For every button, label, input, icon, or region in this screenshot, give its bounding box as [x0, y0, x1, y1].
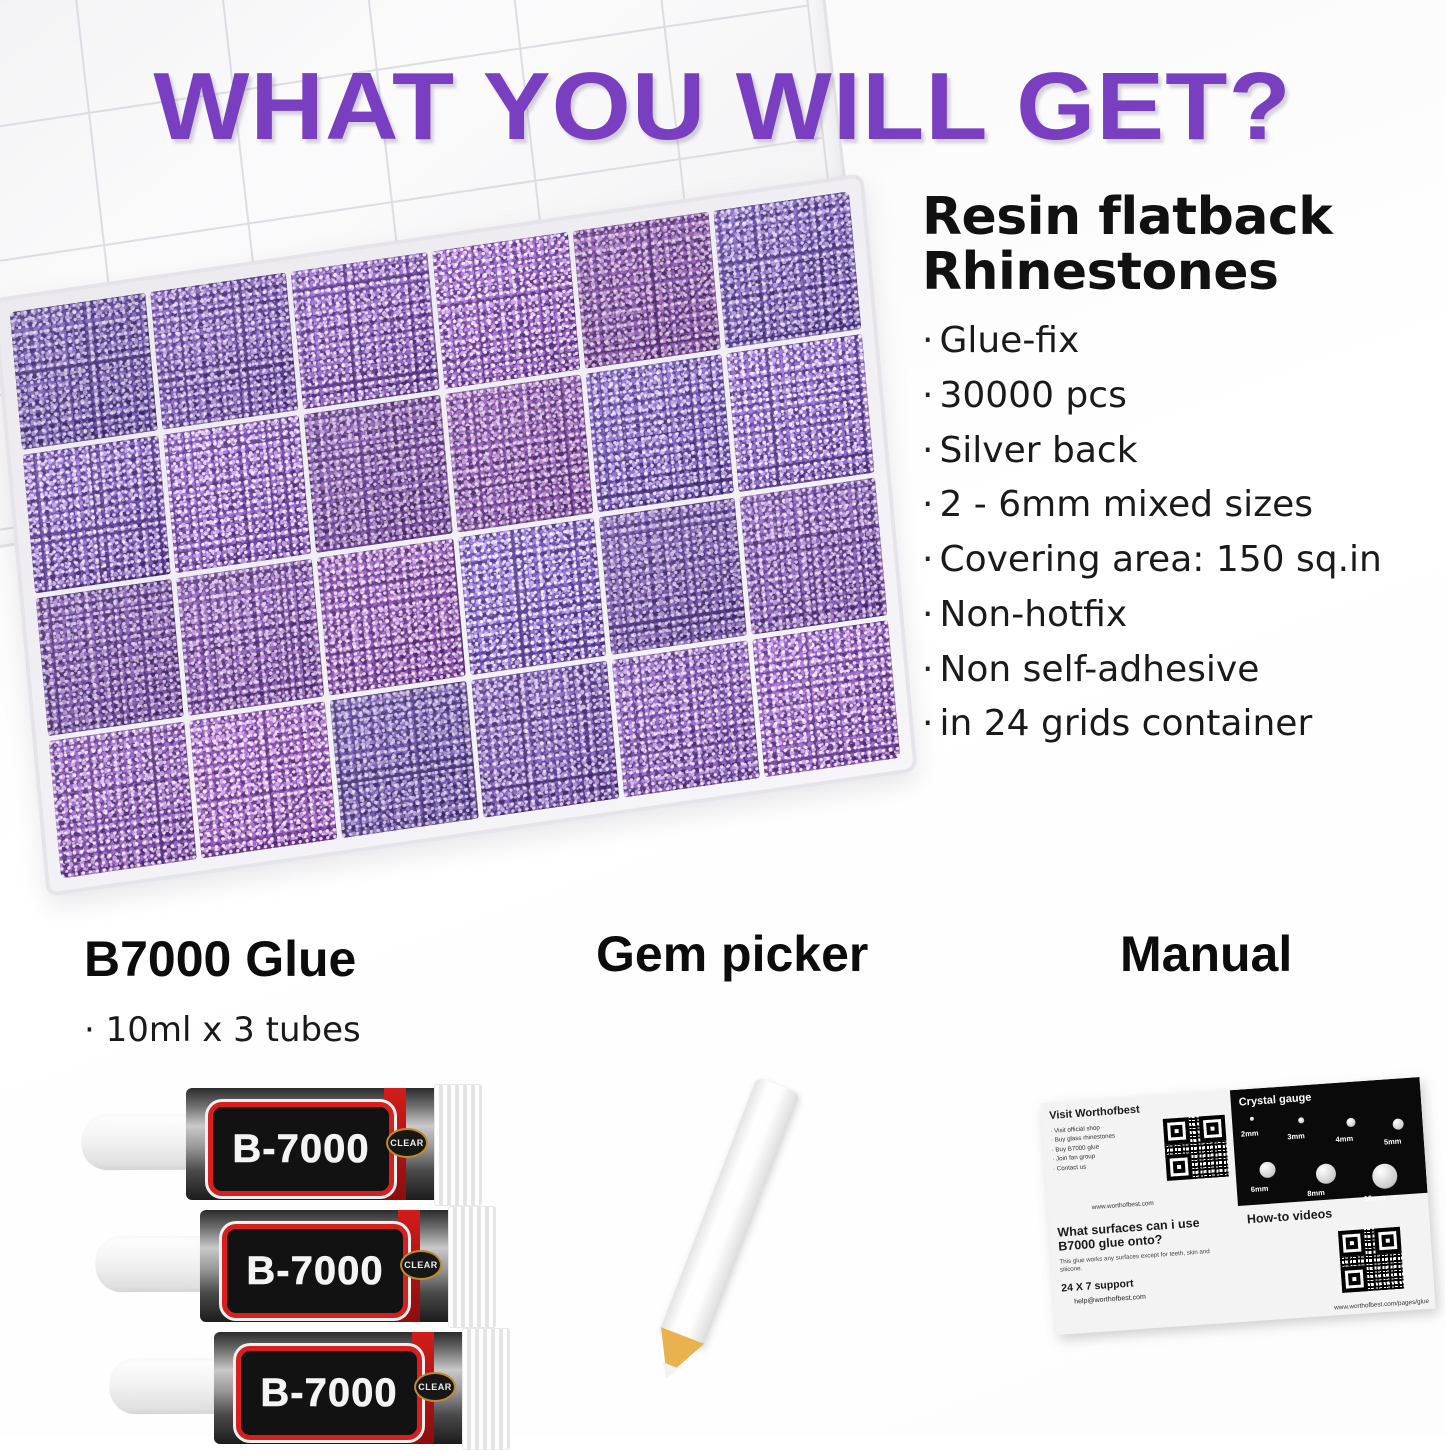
tube-brand-text: B-7000	[260, 1371, 397, 1416]
rhinestone-compartment	[739, 477, 887, 634]
rhinestone-grid	[10, 191, 901, 878]
qr-code-icon	[1163, 1115, 1229, 1181]
tube-clear-badge: CLEAR	[386, 1128, 428, 1158]
bullet-dot-icon: ·	[922, 320, 939, 361]
gem-picker-pencil	[646, 1077, 800, 1383]
tube-label: B-7000	[208, 1102, 394, 1196]
gauge-stone	[1259, 1161, 1276, 1178]
manual-howto-title: How-to videos	[1246, 1200, 1421, 1226]
rhinestone-compartment	[432, 232, 580, 389]
rhinestone-compartment	[49, 721, 197, 878]
gauge-size-label: 2mm	[1241, 1128, 1259, 1138]
glue-tube: B-7000 CLEAR Multi-Purpose Glue 0.5 OZ |…	[96, 1210, 496, 1322]
gauge-stone	[1346, 1118, 1356, 1128]
product-bullet-label: in 24 grids container	[939, 703, 1312, 744]
tube-nozzle	[81, 1114, 201, 1171]
rhinestone-compartment	[330, 681, 478, 838]
glue-quantity-bullet: · 10ml x 3 tubes	[84, 1010, 361, 1050]
product-heading: Resin flatback Rhinestones	[922, 190, 1442, 300]
bullet-dot-icon: ·	[922, 594, 939, 635]
rhinestone-compartment	[458, 518, 606, 675]
rhinestone-compartment	[713, 191, 861, 348]
bullet-dot-icon: ·	[922, 539, 939, 580]
tube-clear-badge: CLEAR	[414, 1372, 456, 1402]
tube-crimp	[434, 1084, 482, 1206]
manual-visit-url: www.worthofbest.com	[1092, 1200, 1154, 1211]
product-bullet-list: ·Glue-fix·30000 pcs·Silver back·2 - 6mm …	[922, 314, 1442, 752]
gauge-stone	[1315, 1163, 1336, 1184]
gauge-size-label: 4mm	[1335, 1134, 1353, 1144]
product-bullet: ·2 - 6mm mixed sizes	[922, 478, 1442, 533]
rhinestone-compartment	[36, 578, 184, 735]
gauge-stone	[1371, 1163, 1398, 1190]
tube-body: B-7000 CLEAR Multi-Purpose Glue 0.5 OZ |…	[186, 1088, 442, 1200]
rhinestone-compartment	[163, 415, 311, 572]
rhinestone-compartment	[445, 375, 593, 532]
gauge-size-label: 6mm	[1251, 1184, 1269, 1194]
product-spec-block: Resin flatback Rhinestones ·Glue-fix·300…	[922, 190, 1442, 752]
product-bullet: ·Glue-fix	[922, 314, 1442, 369]
tube-nozzle	[109, 1358, 229, 1415]
gauge-size-label: 8mm	[1307, 1188, 1325, 1198]
rhinestone-compartment	[150, 272, 298, 429]
gauge-stone	[1392, 1118, 1404, 1130]
gauge-size-label: 5mm	[1384, 1136, 1402, 1146]
gauge-size-label: 3mm	[1287, 1131, 1305, 1141]
manual-section-heading: Manual	[1120, 925, 1292, 983]
tube-clear-badge: CLEAR	[400, 1250, 442, 1280]
rhinestone-compartment	[752, 620, 900, 777]
tube-crimp	[448, 1206, 496, 1328]
tube-brand-text: B-7000	[246, 1249, 383, 1294]
manual-howto-url: www.worthofbest.com/pages/glue	[1334, 1298, 1429, 1312]
manual-quadrant-visit: Visit Worthofbest Visit official shopBuy…	[1040, 1090, 1238, 1219]
tube-label: B-7000	[236, 1346, 422, 1440]
tube-brand-text: B-7000	[232, 1127, 369, 1172]
glue-tube: B-7000 CLEAR Multi-Purpose Glue 0.5 OZ |…	[82, 1088, 482, 1200]
container-tray	[0, 173, 918, 897]
product-bullet-label: Covering area: 150 sq.in	[939, 539, 1381, 580]
gauge-stone	[1298, 1117, 1304, 1123]
product-bullet: ·30000 pcs	[922, 369, 1442, 424]
rhinestone-compartment	[726, 334, 874, 491]
rhinestone-compartment	[23, 436, 171, 593]
manual-quadrant-surfaces: What surfaces can i use B7000 glue onto?…	[1048, 1206, 1246, 1335]
bullet-dot-icon: ·	[922, 484, 939, 525]
product-bullet-label: 30000 pcs	[939, 375, 1126, 416]
gauge-stone	[1250, 1117, 1254, 1121]
tube-nozzle	[95, 1236, 215, 1293]
picker-section-heading: Gem picker	[596, 925, 868, 983]
rhinestone-compartment	[598, 497, 746, 654]
rhinestone-compartment	[189, 701, 337, 858]
rhinestone-compartment	[572, 212, 720, 369]
product-bullet: ·Non-hotfix	[922, 588, 1442, 643]
page-title: WHAT YOU WILL GET?	[0, 52, 1445, 162]
tube-body: B-7000 CLEAR Multi-Purpose Glue 0.5 OZ |…	[200, 1210, 456, 1322]
bullet-dot-icon: ·	[922, 430, 939, 471]
rhinestone-compartment	[10, 293, 158, 450]
product-heading-line1: Resin flatback	[922, 187, 1332, 247]
qr-code-icon	[1338, 1227, 1404, 1293]
product-bullet-label: Non self-adhesive	[939, 649, 1259, 690]
picker-shaft	[660, 1077, 800, 1347]
manual-card: Visit Worthofbest Visit official shopBuy…	[1040, 1077, 1435, 1335]
bullet-dot-icon: ·	[922, 375, 939, 416]
product-bullet: ·in 24 grids container	[922, 697, 1442, 752]
bullet-dot-icon: ·	[922, 703, 939, 744]
rhinestone-compartment	[291, 252, 439, 409]
rhinestone-compartment	[304, 395, 452, 552]
product-bullet: ·Silver back	[922, 424, 1442, 479]
product-bullet-label: Non-hotfix	[939, 594, 1127, 635]
product-bullet-label: 2 - 6mm mixed sizes	[939, 484, 1313, 525]
glue-tube: B-7000 CLEAR Multi-Purpose Glue 0.5 OZ |…	[110, 1332, 510, 1444]
product-bullet: ·Covering area: 150 sq.in	[922, 533, 1442, 588]
rhinestone-compartment	[317, 538, 465, 695]
manual-gauge-title: Crystal gauge	[1238, 1085, 1412, 1110]
tube-label: B-7000	[222, 1224, 408, 1318]
manual-quadrant-gauge: Crystal gauge 2mm3mm4mm5mm6mm8mm10mm	[1230, 1077, 1428, 1206]
rhinestone-compartment	[611, 640, 759, 797]
tube-body: B-7000 CLEAR Multi-Purpose Glue 0.5 OZ |…	[214, 1332, 470, 1444]
rhinestone-compartment	[585, 354, 733, 511]
product-bullet: ·Non self-adhesive	[922, 643, 1442, 698]
rhinestone-compartment	[471, 660, 619, 817]
tube-crimp	[462, 1328, 510, 1450]
rhinestone-compartment	[176, 558, 324, 715]
product-heading-line2: Rhinestones	[922, 242, 1278, 302]
glue-section-heading: B7000 Glue	[84, 930, 356, 988]
bullet-dot-icon: ·	[922, 649, 939, 690]
product-bullet-label: Glue-fix	[939, 320, 1079, 361]
product-bullet-label: Silver back	[939, 430, 1137, 471]
manual-quadrant-howto: How-to videos www.worthofbest.com/pages/…	[1238, 1193, 1436, 1322]
